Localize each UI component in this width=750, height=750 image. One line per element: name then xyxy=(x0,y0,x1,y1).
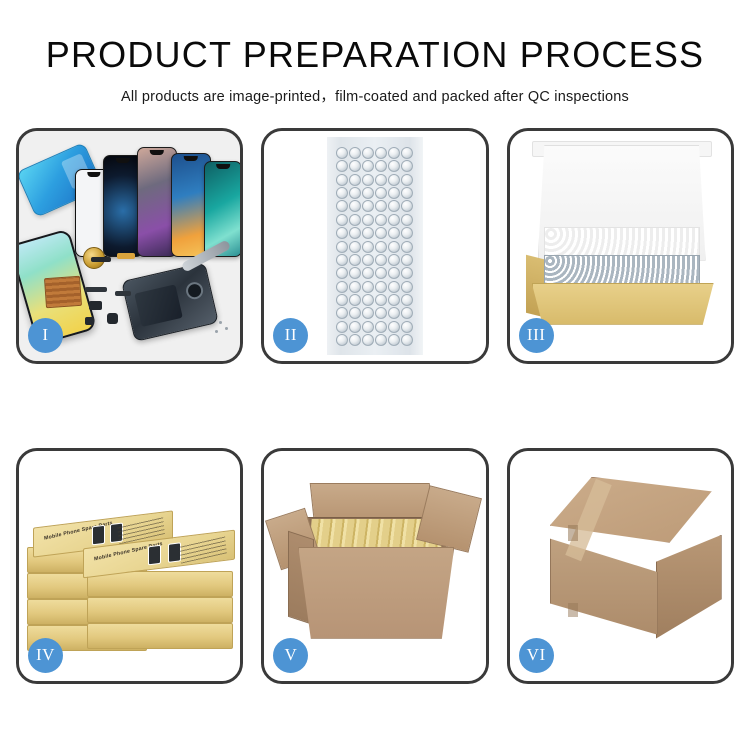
flex-cable-part xyxy=(117,253,135,259)
chip-part xyxy=(107,313,118,324)
step-badge-6: VI xyxy=(519,638,554,673)
bubble-wrap-strip xyxy=(327,137,423,355)
phone-screen-fan xyxy=(71,139,240,257)
step-panel-5: V xyxy=(261,448,488,684)
retail-box xyxy=(87,597,233,623)
bubble-wrapped-contents xyxy=(544,255,700,287)
page-subtitle: All products are image-printed，film-coat… xyxy=(0,85,750,106)
flex-cable-part xyxy=(85,287,107,292)
step-badge-2: II xyxy=(273,318,308,353)
step-panel-2: II xyxy=(261,128,488,364)
step-badge-1: I xyxy=(28,318,63,353)
step-panel-4: Mobile Phone Spare Parts Mobile Phone Sp… xyxy=(16,448,243,684)
page-title: PRODUCT PREPARATION PROCESS xyxy=(0,36,750,74)
step-panel-3: III xyxy=(507,128,734,364)
step-badge-5: V xyxy=(273,638,308,673)
carton-front-face xyxy=(550,523,658,635)
copper-grid-board xyxy=(44,276,82,308)
chip-part xyxy=(89,301,102,310)
product-preparation-infographic: PRODUCT PREPARATION PROCESS All products… xyxy=(0,0,750,750)
disassembled-phone-back xyxy=(121,262,219,342)
sealed-carton xyxy=(528,477,724,653)
chip-part xyxy=(85,317,94,325)
step-badge-3: III xyxy=(519,318,554,353)
kraft-box-front xyxy=(532,283,714,325)
carton-right-face xyxy=(656,535,722,639)
bubble-grid xyxy=(336,147,414,347)
header: PRODUCT PREPARATION PROCESS All products… xyxy=(0,0,750,106)
step-panel-1: I xyxy=(16,128,243,364)
carton-front-panel xyxy=(298,547,454,639)
step-badge-4: IV xyxy=(28,638,63,673)
flex-cable-part xyxy=(115,291,131,296)
tape-tab xyxy=(568,525,578,541)
retail-box-stack: Mobile Phone Spare Parts Mobile Phone Sp… xyxy=(25,463,239,669)
tape-tab xyxy=(568,603,578,617)
retail-box xyxy=(87,623,233,649)
process-steps-grid: I xyxy=(16,128,734,684)
chip-part xyxy=(91,257,111,262)
step-panel-6: VI xyxy=(507,448,734,684)
carton-flap-right xyxy=(416,485,482,552)
